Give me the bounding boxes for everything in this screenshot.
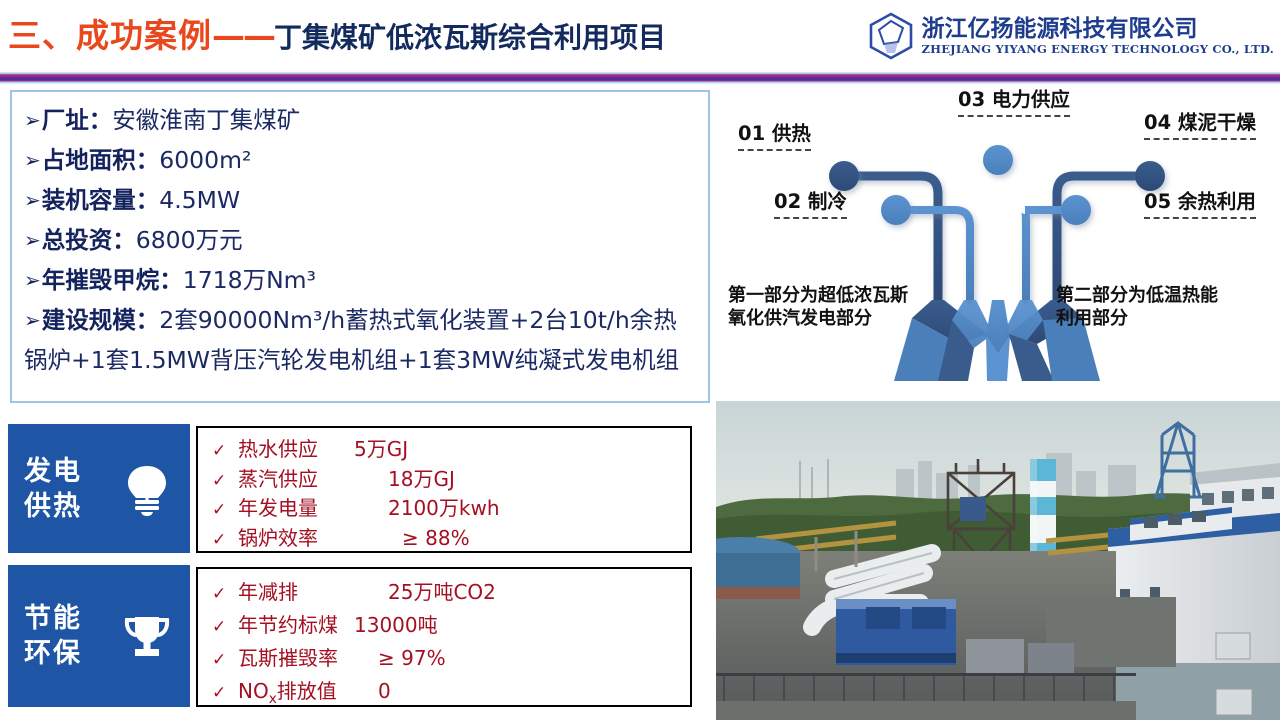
metric-value: 13000吨 — [354, 610, 438, 641]
info-row-scale-cont: 锅炉+1套1.5MW背压汽轮发电机组+1套3MW纯凝式发电机组 — [24, 341, 698, 380]
trophy-icon — [118, 607, 176, 665]
metric-value: 18万GJ — [388, 466, 455, 494]
info-value: 4.5MW — [159, 181, 240, 220]
page-header: 三、成功案例——丁集煤矿低浓瓦斯综合利用项目 浙江亿扬能源科技有限公司 ZHEJ… — [0, 0, 1280, 72]
metric-label: 瓦斯摧毁率 — [238, 643, 354, 674]
info-label: 占地面积： — [42, 141, 160, 180]
node-label-04: 04 煤泥干燥 — [1144, 111, 1256, 140]
project-info-box: ➢ 厂址： 安徽淮南丁集煤矿 ➢ 占地面积： 6000m² ➢ 装机容量： 4.… — [10, 90, 710, 403]
metric-row: ✓ 年减排 25万吨CO2 — [212, 577, 690, 610]
info-label: 厂址： — [42, 101, 113, 140]
part-1-line-2: 氧化供汽发电部分 — [728, 308, 872, 329]
project-site-photo — [716, 401, 1280, 720]
lightbulb-icon — [118, 460, 176, 518]
check-icon: ✓ — [212, 612, 238, 643]
info-value: 6000m² — [159, 141, 251, 180]
page-title-red: 三、成功案例 — [8, 16, 212, 55]
part-2-line-1: 第二部分为低温热能 — [1056, 285, 1218, 306]
check-icon: ✓ — [212, 579, 238, 610]
bullet-icon: ➢ — [24, 141, 41, 180]
page-title-navy: 丁集煤矿低浓瓦斯综合利用项目 — [274, 21, 666, 54]
badge-energy-saving: 节能 环保 — [8, 565, 190, 707]
info-label: 总投资： — [42, 221, 136, 260]
metric-row: ✓ 瓦斯摧毁率 ≥ 97% — [212, 643, 690, 676]
check-icon: ✓ — [212, 497, 238, 525]
metric-label: 年发电量 — [238, 495, 354, 523]
company-logo: 浙江亿扬能源科技有限公司 ZHEJIANG YIYANG ENERGY TECH… — [868, 8, 1274, 64]
logo-text-block: 浙江亿扬能源科技有限公司 ZHEJIANG YIYANG ENERGY TECH… — [922, 16, 1274, 56]
metric-value: ≥ 97% — [378, 643, 446, 674]
info-value: 2套90000Nm³/h蓄热式氧化装置+2台10t/h余热 — [159, 301, 676, 340]
info-row-investment: ➢ 总投资： 6800万元 — [24, 221, 698, 261]
node-03-dot — [983, 145, 1013, 175]
badge-line-2: 供热 — [24, 491, 82, 522]
metric-label: 年减排 — [238, 577, 354, 608]
part-1-line-1: 第一部分为超低浓瓦斯 — [728, 285, 908, 306]
energy-saving-metrics-box: ✓ 年减排 25万吨CO2 ✓ 年节约标煤 13000吨 ✓ 瓦斯摧毁率 ≥ 9… — [196, 567, 692, 707]
info-value: 安徽淮南丁集煤矿 — [112, 101, 300, 140]
check-icon: ✓ — [212, 645, 238, 676]
metric-row: ✓ NOx排放值 0 — [212, 676, 690, 715]
metric-label: 年节约标煤 — [238, 610, 354, 641]
page-title: 三、成功案例——丁集煤矿低浓瓦斯综合利用项目 — [8, 14, 666, 60]
info-row-scale: ➢ 建设规模： 2套90000Nm³/h蓄热式氧化装置+2台10t/h余热 — [24, 301, 698, 341]
metric-row: ✓ 蒸汽供应 18万GJ — [212, 466, 690, 496]
info-row-methane: ➢ 年摧毁甲烷： 1718万Nm³ — [24, 261, 698, 301]
bullet-icon: ➢ — [24, 101, 41, 140]
badge-power-heat-label: 发电 供热 — [24, 454, 82, 524]
metric-value: 25万吨CO2 — [388, 577, 496, 608]
metric-label: 热水供应 — [238, 436, 354, 464]
info-label: 装机容量： — [42, 181, 160, 220]
info-row-site: ➢ 厂址： 安徽淮南丁集煤矿 — [24, 101, 698, 141]
metric-row: ✓ 年发电量 2100万kwh — [212, 495, 690, 525]
metric-label: 蒸汽供应 — [238, 466, 354, 494]
header-divider — [0, 72, 1280, 84]
metric-row: ✓ 年节约标煤 13000吨 — [212, 610, 690, 643]
info-row-area: ➢ 占地面积： 6000m² — [24, 141, 698, 181]
bullet-icon: ➢ — [24, 221, 41, 260]
badge-power-heat: 发电 供热 — [8, 424, 190, 553]
company-name-cn: 浙江亿扬能源科技有限公司 — [922, 16, 1274, 42]
node-01-dot — [829, 161, 859, 191]
node-05-dot — [1061, 195, 1091, 225]
metric-value: ≥ 88% — [402, 525, 470, 553]
node-label-05: 05 余热利用 — [1144, 190, 1256, 219]
info-label: 年摧毁甲烷： — [42, 261, 183, 300]
metric-value: 2100万kwh — [388, 495, 500, 523]
badge-line-1: 发电 — [24, 456, 82, 487]
check-icon: ✓ — [212, 527, 238, 555]
metric-row: ✓ 锅炉效率 ≥ 88% — [212, 525, 690, 555]
company-name-en: ZHEJIANG YIYANG ENERGY TECHNOLOGY CO., L… — [922, 42, 1274, 56]
part-label-1: 第一部分为超低浓瓦斯 氧化供汽发电部分 — [728, 284, 908, 330]
page-title-dash: —— — [212, 16, 274, 55]
node-label-01: 01 供热 — [738, 122, 811, 151]
metric-value: 5万GJ — [354, 436, 408, 464]
branch-diagram: 01 供热 02 制冷 03 电力供应 04 煤泥干燥 05 余热利用 第一部分… — [716, 86, 1280, 400]
bullet-icon: ➢ — [24, 181, 41, 220]
part-label-2: 第二部分为低温热能 利用部分 — [1056, 284, 1218, 330]
metric-value: 0 — [378, 676, 391, 707]
node-04-dot — [1135, 161, 1165, 191]
check-icon: ✓ — [212, 468, 238, 496]
info-row-capacity: ➢ 装机容量： 4.5MW — [24, 181, 698, 221]
part-2-line-2: 利用部分 — [1056, 308, 1128, 329]
check-icon: ✓ — [212, 678, 238, 709]
metric-row: ✓ 热水供应 5万GJ — [212, 436, 690, 466]
node-label-03: 03 电力供应 — [958, 88, 1070, 117]
bullet-icon: ➢ — [24, 261, 41, 300]
badge-line-1: 节能 — [24, 603, 82, 634]
info-label: 建设规模： — [42, 301, 160, 340]
metric-label: NOx排放值 — [238, 676, 354, 715]
hexagon-logo-icon — [868, 12, 914, 60]
node-label-02: 02 制冷 — [774, 190, 847, 219]
badge-energy-saving-label: 节能 环保 — [24, 601, 82, 671]
power-heat-metrics-box: ✓ 热水供应 5万GJ ✓ 蒸汽供应 18万GJ ✓ 年发电量 2100万kwh… — [196, 426, 692, 553]
check-icon: ✓ — [212, 438, 238, 466]
badge-line-2: 环保 — [24, 638, 82, 669]
node-02-dot — [881, 195, 911, 225]
info-value: 1718万Nm³ — [183, 261, 316, 300]
bullet-icon: ➢ — [24, 301, 41, 340]
metric-label: 锅炉效率 — [238, 525, 354, 553]
info-value: 6800万元 — [136, 221, 243, 260]
plant-aerial-illustration — [716, 401, 1280, 720]
